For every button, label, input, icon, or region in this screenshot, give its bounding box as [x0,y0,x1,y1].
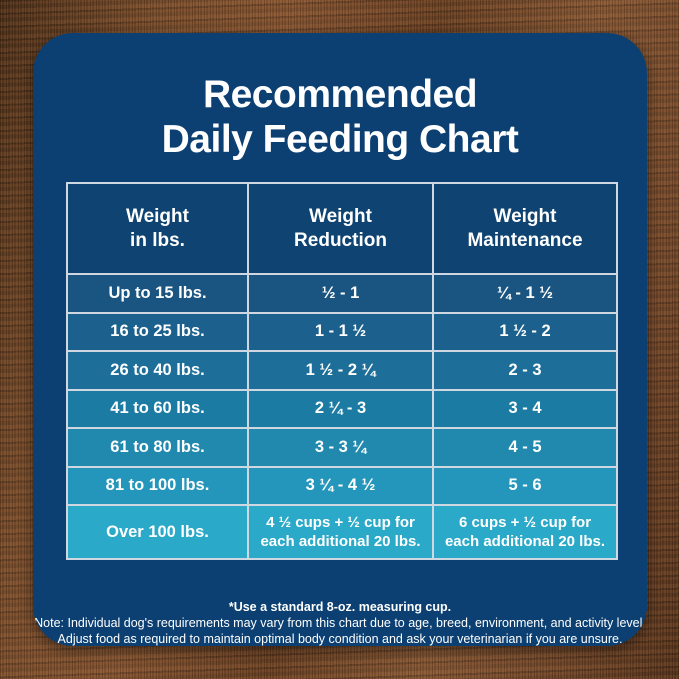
feeding-table-body: Up to 15 lbs. ½ - 1 ¼ - 1 ½ 16 to 25 lbs… [68,275,616,558]
table-header-row: Weight in lbs. Weight Reduction Weight M… [68,184,616,275]
cell-reduction: 1 ½ - 2 ¼ [249,352,434,391]
column-header-weight-reduction: Weight Reduction [249,184,434,275]
table-row-over-100: Over 100 lbs. 4 ½ cups + ½ cup for each … [68,506,616,558]
title-line-2: Daily Feeding Chart [33,117,647,162]
cell-maintenance: 2 - 3 [434,352,616,391]
page-title: Recommended Daily Feeding Chart [33,33,647,162]
column-header-weight-line-2: in lbs. [72,229,243,253]
title-line-1: Recommended [33,72,647,117]
column-header-reduction-line-1: Weight [253,205,428,229]
feeding-table: Weight in lbs. Weight Reduction Weight M… [66,182,618,560]
cell-maintenance: 5 - 6 [434,468,616,507]
cell-maintenance: 6 cups + ½ cup for each additional 20 lb… [434,506,616,558]
wood-table-background: Recommended Daily Feeding Chart Weight i… [0,0,679,679]
cell-maintenance: ¼ - 1 ½ [434,275,616,314]
cell-reduction: 3 ¼ - 4 ½ [249,468,434,507]
cell-reduction-line-1: 4 ½ cups + ½ cup for [253,513,428,532]
cell-weight: 41 to 60 lbs. [68,391,249,430]
cell-maintenance: 1 ½ - 2 [434,314,616,353]
feeding-chart-card: Recommended Daily Feeding Chart Weight i… [33,33,647,646]
table-row: 26 to 40 lbs. 1 ½ - 2 ¼ 2 - 3 [68,352,616,391]
column-header-weight-maintenance: Weight Maintenance [434,184,616,275]
cell-weight: 26 to 40 lbs. [68,352,249,391]
table-row: Up to 15 lbs. ½ - 1 ¼ - 1 ½ [68,275,616,314]
footnote-note-line-1: Note: Individual dog's requirements may … [33,615,647,631]
cell-weight: 16 to 25 lbs. [68,314,249,353]
table-row: 81 to 100 lbs. 3 ¼ - 4 ½ 5 - 6 [68,468,616,507]
table-row: 16 to 25 lbs. 1 - 1 ½ 1 ½ - 2 [68,314,616,353]
cell-reduction-line-2: each additional 20 lbs. [253,532,428,551]
footnote-note-line-2: Adjust food as required to maintain opti… [33,631,647,646]
column-header-maintenance-line-2: Maintenance [438,229,612,253]
cell-reduction: ½ - 1 [249,275,434,314]
footnotes: *Use a standard 8-oz. measuring cup. Not… [33,599,647,646]
cell-weight: Over 100 lbs. [68,506,249,558]
cell-reduction: 4 ½ cups + ½ cup for each additional 20 … [249,506,434,558]
cell-reduction: 3 - 3 ¼ [249,429,434,468]
cell-weight: 61 to 80 lbs. [68,429,249,468]
cell-weight: 81 to 100 lbs. [68,468,249,507]
cell-maintenance: 3 - 4 [434,391,616,430]
column-header-maintenance-line-1: Weight [438,205,612,229]
cell-maintenance: 4 - 5 [434,429,616,468]
footnote-measuring-cup: *Use a standard 8-oz. measuring cup. [33,599,647,615]
column-header-reduction-line-2: Reduction [253,229,428,253]
cell-weight: Up to 15 lbs. [68,275,249,314]
column-header-weight: Weight in lbs. [68,184,249,275]
cell-reduction: 1 - 1 ½ [249,314,434,353]
column-header-weight-line-1: Weight [72,205,243,229]
cell-maintenance-line-1: 6 cups + ½ cup for [438,513,612,532]
feeding-table-container: Weight in lbs. Weight Reduction Weight M… [66,182,614,560]
cell-reduction: 2 ¼ - 3 [249,391,434,430]
cell-maintenance-line-2: each additional 20 lbs. [438,532,612,551]
table-row: 61 to 80 lbs. 3 - 3 ¼ 4 - 5 [68,429,616,468]
table-row: 41 to 60 lbs. 2 ¼ - 3 3 - 4 [68,391,616,430]
